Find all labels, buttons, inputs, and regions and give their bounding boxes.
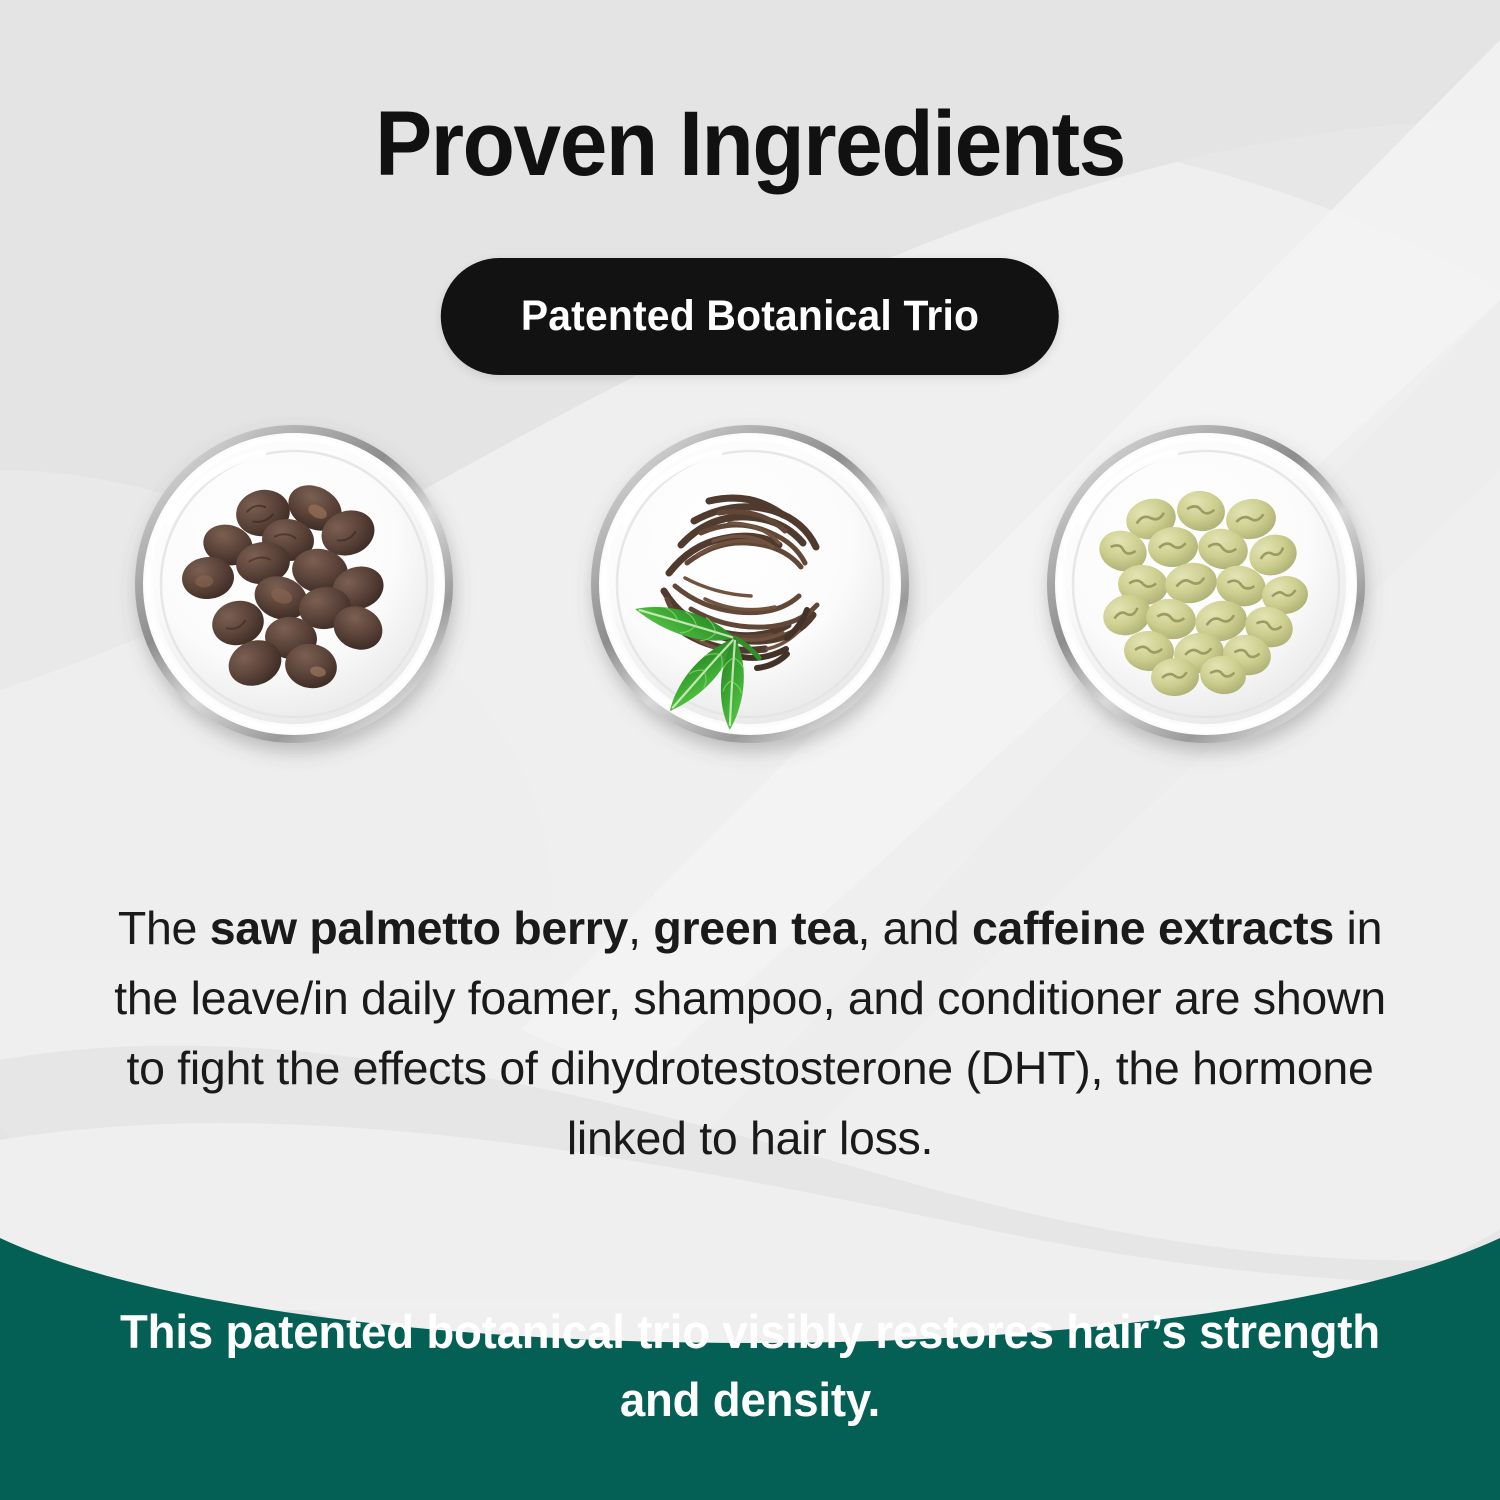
body-paragraph: The saw palmetto berry, green tea, and c…	[90, 893, 1410, 1173]
page-title: Proven Ingredients	[53, 96, 1448, 193]
body-part-2: ,	[628, 902, 653, 954]
body-part-3-bold: green tea	[653, 902, 857, 954]
ingredient-dish-row	[0, 423, 1500, 763]
ingredient-dish-green-coffee-bean	[1045, 423, 1367, 745]
body-part-1-bold: saw palmetto berry	[210, 902, 628, 954]
footer-banner: This patented botanical trio visibly res…	[0, 1200, 1500, 1500]
status-badge-label: Patented Botanical Trio	[521, 292, 979, 341]
body-part-0: The	[118, 902, 210, 954]
ingredient-dish-saw-palmetto-berry	[133, 423, 455, 745]
infographic-page: Proven Ingredients Patented Botanical Tr…	[0, 0, 1500, 1500]
footer-headline: This patented botanical trio visibly res…	[110, 1298, 1390, 1434]
ingredient-dish-green-tea	[589, 423, 911, 745]
status-badge: Patented Botanical Trio	[441, 258, 1059, 375]
body-part-5-bold: caffeine extracts	[972, 902, 1334, 954]
body-part-4: , and	[857, 902, 972, 954]
